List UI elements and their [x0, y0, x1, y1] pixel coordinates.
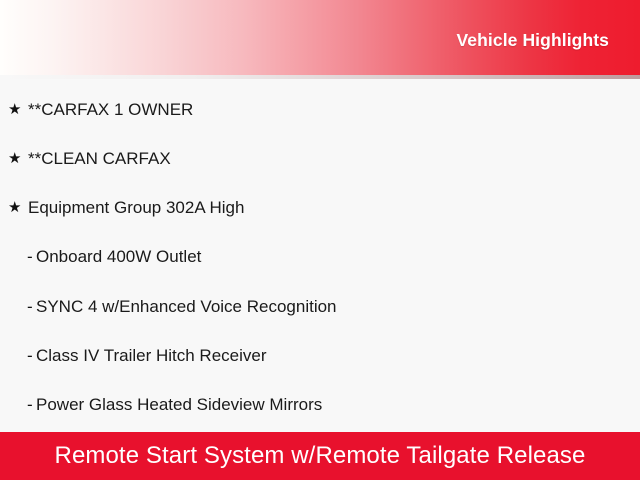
- highlight-item-label: **CARFAX 1 OWNER: [28, 101, 193, 118]
- highlight-item-label: SYNC 4 w/Enhanced Voice Recognition: [36, 298, 337, 315]
- footer-banner: Remote Start System w/Remote Tailgate Re…: [0, 432, 640, 480]
- highlight-item-label: Equipment Group 302A High: [28, 199, 244, 216]
- star-bullet-icon: ★: [8, 151, 28, 166]
- footer-headline: Remote Start System w/Remote Tailgate Re…: [55, 442, 586, 470]
- highlight-item-label: Class IV Trailer Hitch Receiver: [36, 347, 267, 364]
- vehicle-highlights-slide: Vehicle Highlights ★**CARFAX 1 OWNER★**C…: [0, 0, 640, 480]
- highlight-sub-item: -SYNC 4 w/Enhanced Voice Recognition: [0, 295, 640, 317]
- highlight-item: ★**CARFAX 1 OWNER: [0, 98, 640, 120]
- highlight-item: ★**CLEAN CARFAX: [0, 147, 640, 169]
- dash-bullet-icon: -: [27, 248, 36, 265]
- dash-bullet-icon: -: [27, 396, 36, 413]
- page-title: Vehicle Highlights: [456, 30, 609, 51]
- star-bullet-icon: ★: [8, 102, 28, 117]
- highlight-item: ★Equipment Group 302A High: [0, 197, 640, 219]
- highlight-sub-item: -Class IV Trailer Hitch Receiver: [0, 345, 640, 367]
- highlight-item-label: Power Glass Heated Sideview Mirrors: [36, 396, 322, 413]
- highlight-item-label: **CLEAN CARFAX: [28, 150, 171, 167]
- dash-bullet-icon: -: [27, 298, 36, 315]
- highlight-item-label: Onboard 400W Outlet: [36, 248, 201, 265]
- highlight-sub-item: -Onboard 400W Outlet: [0, 246, 640, 268]
- header-banner: Vehicle Highlights: [0, 0, 640, 75]
- highlights-list: ★**CARFAX 1 OWNER★**CLEAN CARFAX★Equipme…: [0, 75, 640, 432]
- highlight-sub-item: -Power Glass Heated Sideview Mirrors: [0, 394, 640, 416]
- dash-bullet-icon: -: [27, 347, 36, 364]
- star-bullet-icon: ★: [8, 200, 28, 215]
